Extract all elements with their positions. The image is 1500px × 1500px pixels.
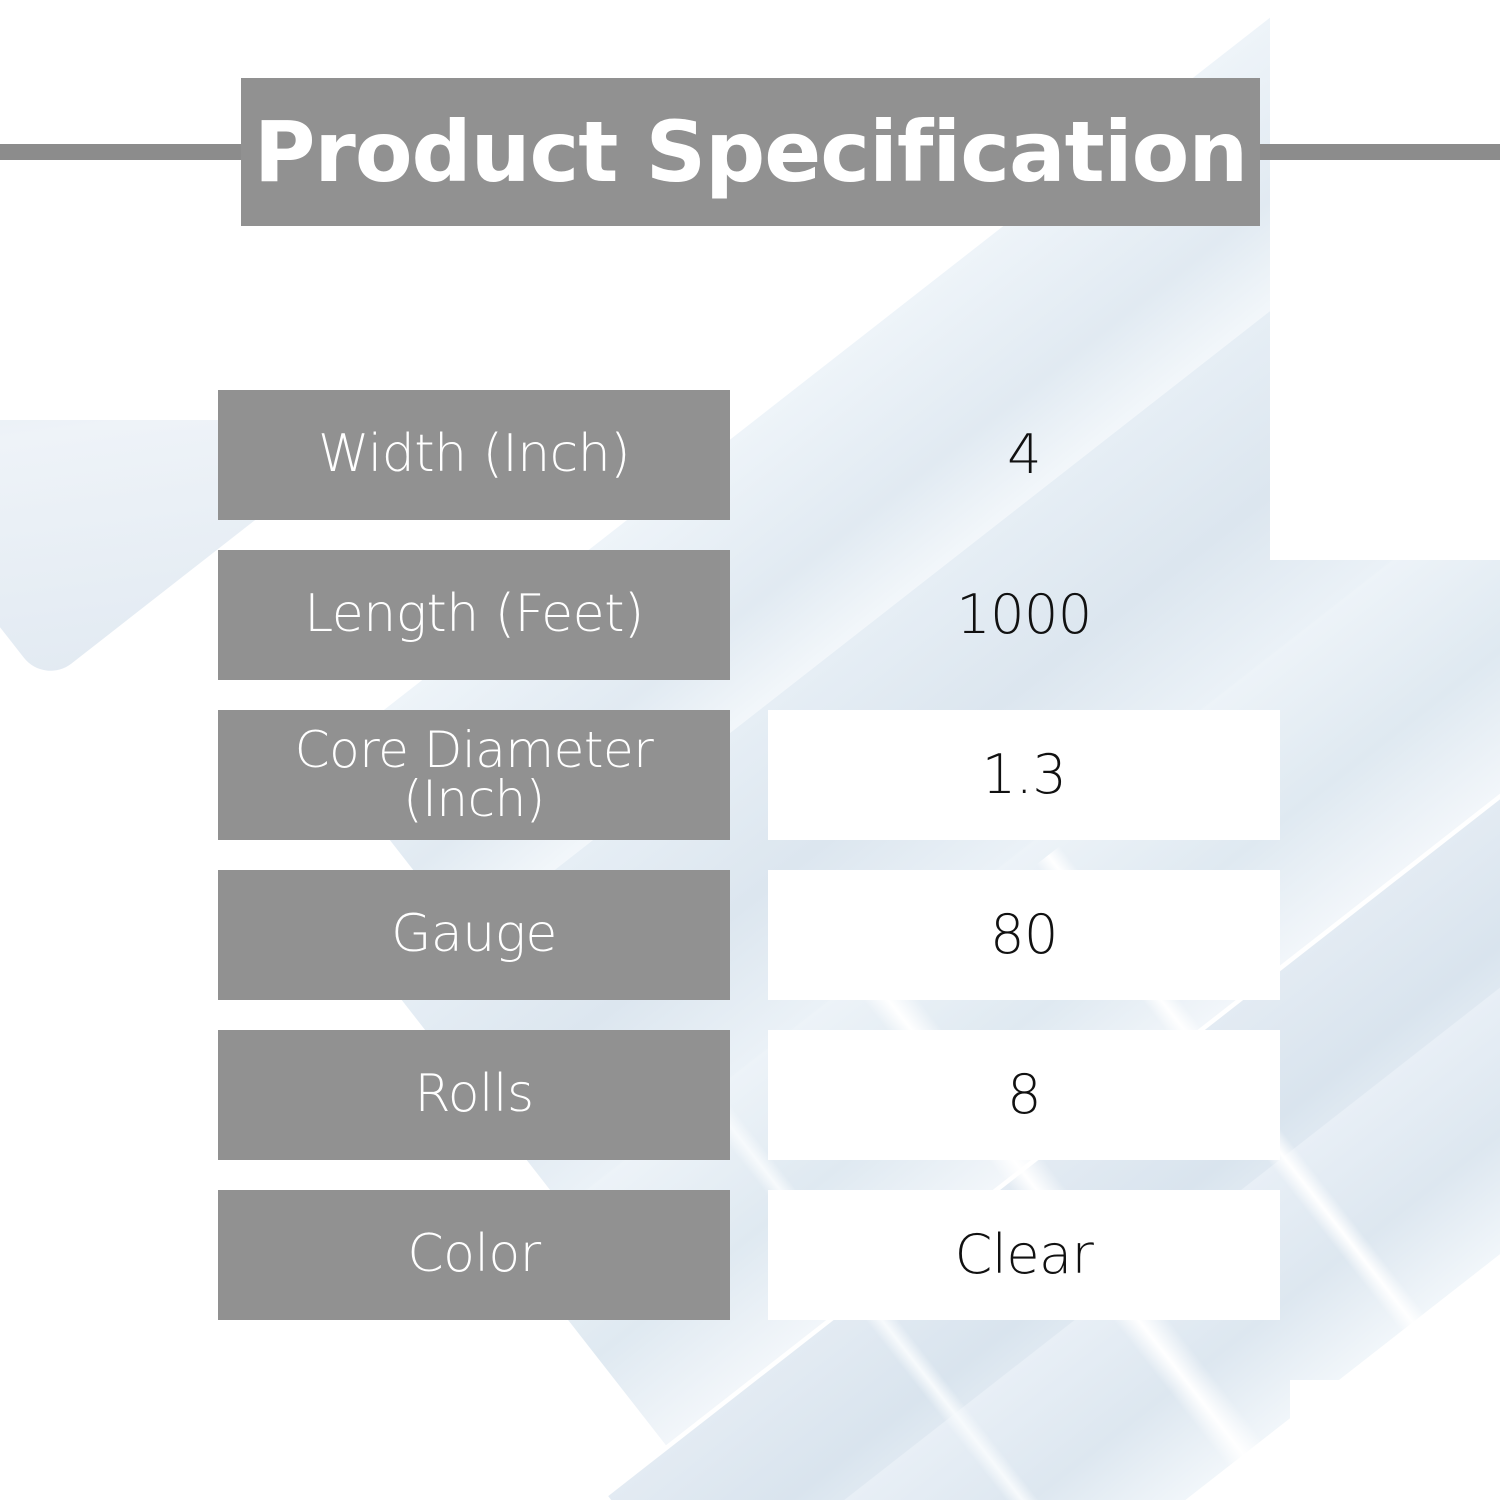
white-mask-top-right [1270,0,1500,560]
row-gap [730,1030,768,1160]
row-gap [730,390,768,520]
table-row: Color Clear [218,1190,1280,1320]
spec-value-text: 80 [990,908,1058,962]
spec-label-text: Width (Inch) [318,428,630,482]
spec-label-color: Color [218,1190,730,1320]
page-title: Product Specification [254,110,1247,194]
table-row: Width (Inch) 4 [218,390,1280,520]
spec-value-text: Clear [955,1228,1094,1282]
spec-label-text: Core Diameter (Inch) [232,726,716,824]
spec-label-text: Rolls [414,1068,533,1122]
spec-label-width: Width (Inch) [218,390,730,520]
spec-label-length: Length (Feet) [218,550,730,680]
row-gap [730,1190,768,1320]
spec-value-rolls: 8 [768,1030,1280,1160]
table-row: Core Diameter (Inch) 1.3 [218,710,1280,840]
spec-label-text: Gauge [391,908,557,962]
spec-label-gauge: Gauge [218,870,730,1000]
table-row: Gauge 80 [218,870,1280,1000]
table-row: Length (Feet) 1000 [218,550,1280,680]
stretch-film-roll-edge [0,55,19,353]
spec-value-text: 4 [1007,428,1041,482]
product-specification-infographic: Product Specification Width (Inch) 4 Len… [0,0,1500,1500]
white-mask-bottom-right [1290,1380,1500,1500]
spec-value-width: 4 [768,390,1280,520]
spec-value-text: 1.3 [982,748,1066,802]
row-gap [730,710,768,840]
spec-value-core-diameter: 1.3 [768,710,1280,840]
spec-label-rolls: Rolls [218,1030,730,1160]
spec-value-text: 8 [1007,1068,1041,1122]
white-mask-top-left [0,0,260,420]
spec-value-gauge: 80 [768,870,1280,1000]
spec-label-text: Color [407,1228,540,1282]
spec-label-core-diameter: Core Diameter (Inch) [218,710,730,840]
spec-label-text: Length (Feet) [304,588,644,642]
spec-value-color: Clear [768,1190,1280,1320]
title-banner: Product Specification [241,78,1260,226]
spec-value-text: 1000 [956,588,1091,642]
row-gap [730,870,768,1000]
row-gap [730,550,768,680]
spec-value-length: 1000 [768,550,1280,680]
specification-table: Width (Inch) 4 Length (Feet) 1000 Core D… [218,390,1280,1320]
white-mask-bottom-left [0,980,230,1500]
table-row: Rolls 8 [218,1030,1280,1160]
